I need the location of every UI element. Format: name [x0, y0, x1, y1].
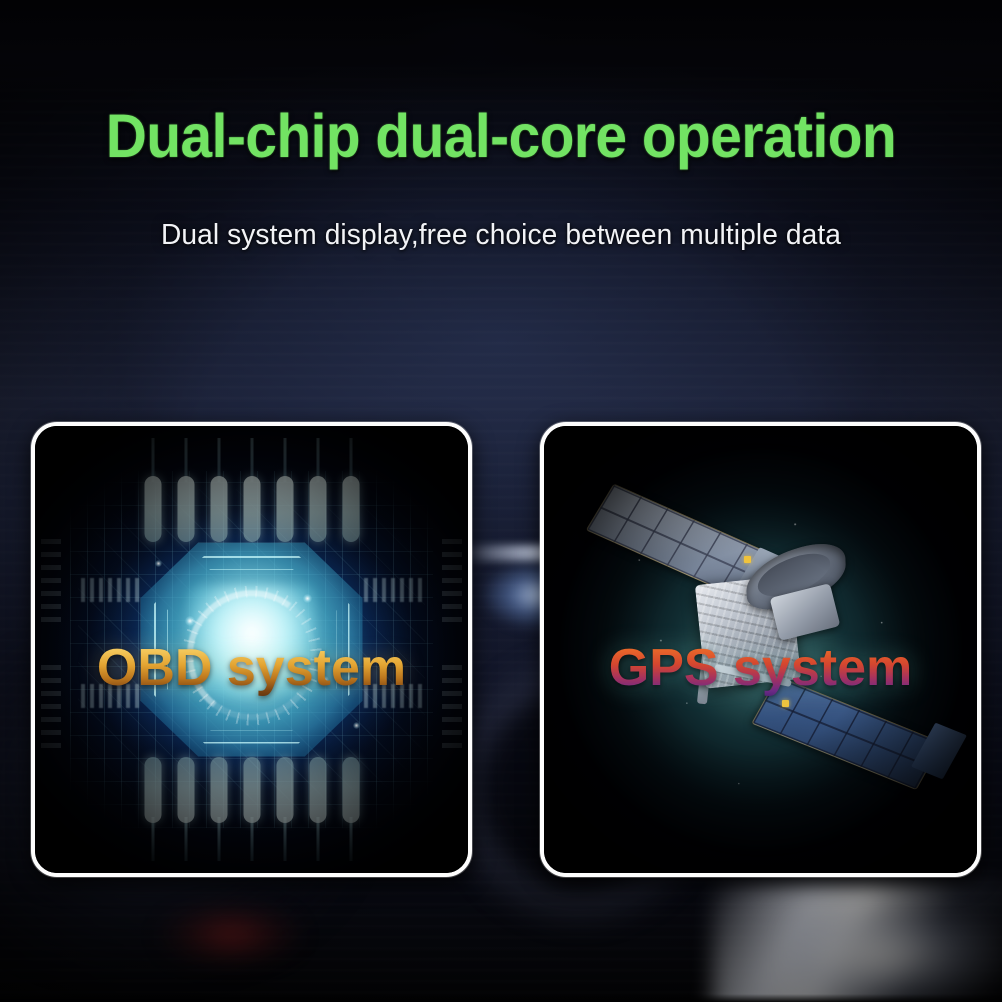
product-feature-banner: Dual-chip dual-core operation Dual syste…: [0, 0, 1002, 1002]
feature-card-gps-inner: GPS system: [544, 426, 977, 873]
background-bottom-shade: [0, 994, 1002, 1002]
feature-card-obd-inner: OBD system: [35, 426, 468, 873]
page-subtitle: Dual system display,free choice between …: [15, 219, 987, 252]
feature-card-obd[interactable]: OBD system: [31, 422, 472, 877]
background-top-shade: [0, 0, 1002, 105]
feature-title-gps: GPS system: [544, 638, 977, 698]
feature-card-gps[interactable]: GPS system: [540, 422, 981, 877]
page-title: Dual-chip dual-core operation: [35, 104, 967, 169]
feature-title-obd: OBD system: [35, 638, 468, 698]
